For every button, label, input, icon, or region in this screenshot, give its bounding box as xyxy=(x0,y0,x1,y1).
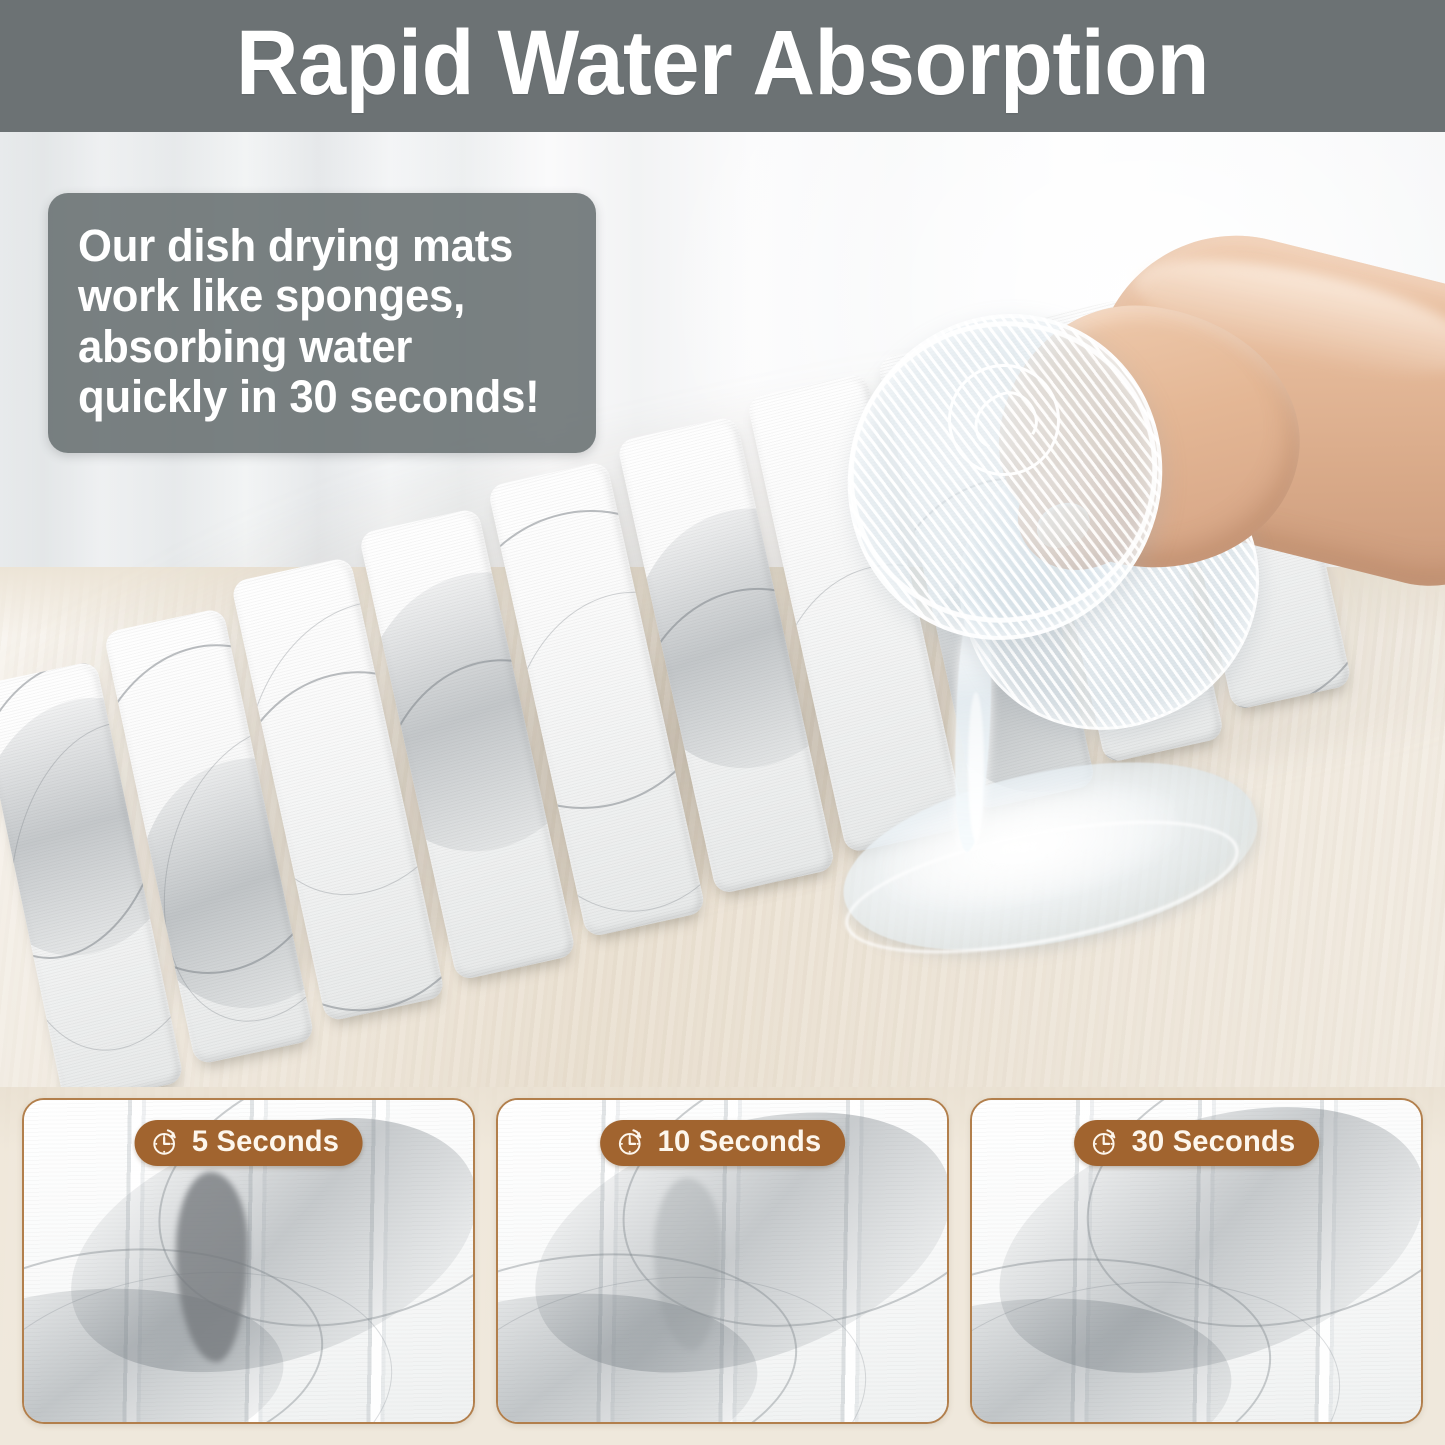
callout-line-2: work like sponges, xyxy=(78,271,551,321)
panel-10-seconds: 10 Seconds xyxy=(496,1098,949,1424)
badge-label-10-seconds: 10 Seconds xyxy=(657,1127,821,1157)
panel-5-seconds: 5 Seconds xyxy=(22,1098,475,1424)
clock-refresh-icon xyxy=(150,1127,180,1157)
clock-refresh-icon xyxy=(616,1127,646,1157)
callout-line-3: absorbing water xyxy=(78,322,551,372)
badge-30-seconds: 30 Seconds xyxy=(1074,1120,1320,1166)
clock-refresh-icon xyxy=(1090,1127,1120,1157)
water-stream-highlight xyxy=(968,692,984,842)
badge-10-seconds: 10 Seconds xyxy=(600,1120,846,1166)
panel-30-seconds: 30 Seconds xyxy=(970,1098,1423,1424)
badge-label-5-seconds: 5 Seconds xyxy=(191,1127,338,1157)
product-feature-image: Rapid Water Absorption Our dish drying m… xyxy=(0,0,1445,1445)
callout-line-1: Our dish drying mats xyxy=(78,221,551,271)
badge-5-seconds: 5 Seconds xyxy=(134,1120,363,1166)
absorption-timeline-panels: 5 Seconds xyxy=(0,1087,1445,1445)
callout-line-4: quickly in 30 seconds! xyxy=(78,372,551,422)
header-banner: Rapid Water Absorption xyxy=(0,0,1445,132)
badge-label-30-seconds: 30 Seconds xyxy=(1131,1127,1295,1157)
page-title: Rapid Water Absorption xyxy=(236,17,1209,115)
callout-box: Our dish drying mats work like sponges, … xyxy=(48,193,596,453)
